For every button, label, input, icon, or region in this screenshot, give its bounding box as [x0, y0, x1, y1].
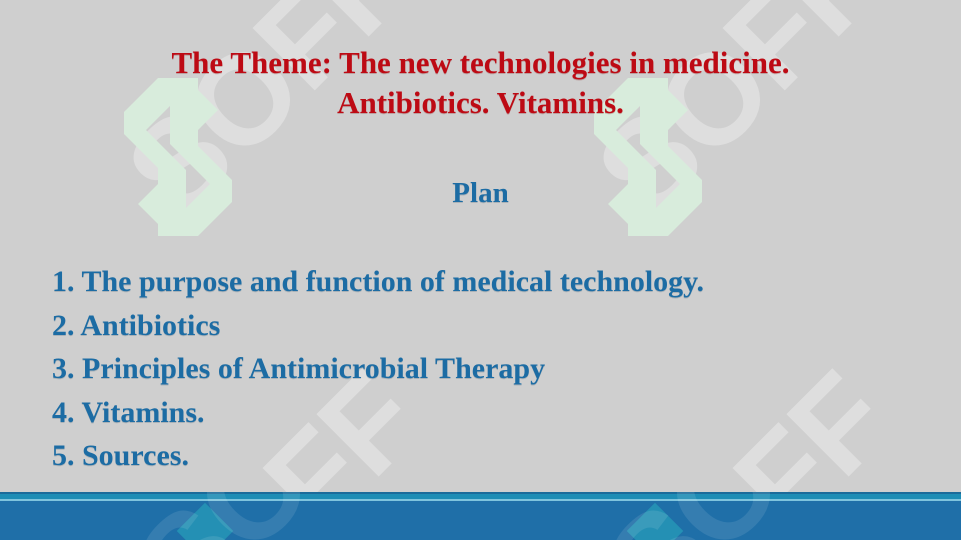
slide-content: The Theme: The new technologies in medic…	[0, 0, 961, 540]
list-item: 3. Principles of Antimicrobial Therapy	[52, 347, 922, 391]
plan-list: 1. The purpose and function of medical t…	[52, 260, 922, 478]
slide-title-line-2: Antibiotics. Vitamins.	[60, 83, 901, 123]
slide-title-line-1: The Theme: The new technologies in medic…	[60, 43, 901, 83]
list-item: 5. Sources.	[52, 434, 922, 478]
list-item: 2. Antibiotics	[52, 304, 922, 348]
plan-heading: Plan	[60, 176, 901, 210]
footer-bar: SOFF SOFF	[0, 492, 961, 540]
list-item: 4. Vitamins.	[52, 391, 922, 435]
list-item: 1. The purpose and function of medical t…	[52, 260, 922, 304]
slide-title: The Theme: The new technologies in medic…	[60, 43, 901, 123]
presentation-slide: SOFF SOFF SOFF SOFF The Theme: The new t…	[0, 0, 961, 540]
